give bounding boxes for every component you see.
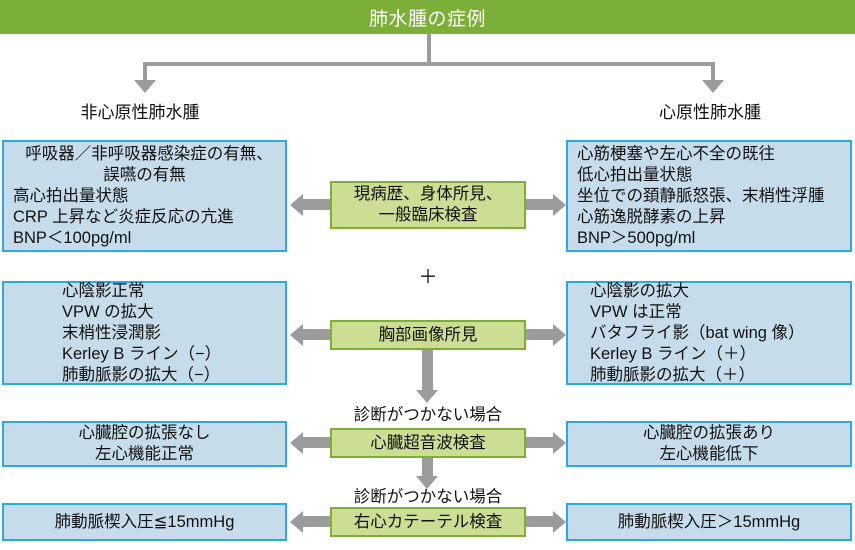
finding-line: BNP＜100pg/ml [4, 228, 285, 249]
flowchart-canvas: 肺水腫の症例 非心原性肺水腫 心原性肺水腫 呼吸器／非呼吸器感染症の有無、 誤嚥… [0, 0, 855, 550]
finding-line: 左心機能低下 [568, 444, 850, 465]
center-step-box-row2[interactable]: 胸部画像所見 [330, 320, 526, 350]
arrow-left-row2 [290, 324, 303, 346]
finding-line: Kerley B ライン（−） [4, 344, 285, 365]
right-findings-box-row4: 肺動脈楔入圧＞15mmHg [566, 503, 852, 541]
branch-label-left: 非心原性肺水腫 [45, 103, 235, 123]
finding-line: 心臓腔の拡張なし [4, 423, 285, 444]
connector-right-branch-stem [711, 62, 715, 82]
finding-line: BNP＞500pg/ml [568, 228, 850, 249]
left-findings-box-row3: 心臓腔の拡張なし 左心機能正常 [2, 421, 287, 467]
connector-row1-left-shaft [303, 199, 330, 210]
connector-left-branch-stem [143, 62, 147, 82]
finding-line: 心筋逸脱酵素の上昇 [568, 207, 850, 228]
arrow-right-row4 [553, 511, 566, 533]
connector-row3-right-shaft [526, 437, 553, 448]
finding-line: 肺動脈影の拡大（＋） [568, 365, 850, 386]
arrow-left-row4 [290, 511, 303, 533]
arrow-down-right-branch [702, 80, 724, 93]
arrow-down-row2-to-row3 [416, 390, 438, 403]
finding-line: VPW の拡大 [4, 302, 285, 323]
finding-line: 高心拍出量状態 [4, 186, 285, 207]
finding-line: 呼吸器／非呼吸器感染症の有無、 [4, 144, 285, 165]
finding-line: 低心拍出量状態 [568, 165, 850, 186]
center-step-box-row4[interactable]: 右心カテーテル検査 [330, 507, 526, 537]
note-label-row3: 診断がつかない場合 [330, 405, 526, 425]
step-line: 心臓超音波検査 [332, 433, 524, 454]
center-step-box-row3[interactable]: 心臓超音波検査 [330, 428, 526, 458]
finding-line: 肺動脈影の拡大（−） [4, 365, 285, 386]
connector-row2-left-shaft [303, 329, 330, 340]
step-line: 右心カテーテル検査 [332, 512, 524, 533]
connector-row4-left-shaft [303, 516, 330, 527]
center-step-box-row1[interactable]: 現病歴、身体所見、 一般臨床検査 [330, 181, 526, 229]
left-findings-box-row4: 肺動脈楔入圧≦15mmHg [2, 503, 287, 541]
note-label-row4: 診断がつかない場合 [330, 487, 526, 507]
connector-row3-left-shaft [303, 437, 330, 448]
connector-root-horizontal [143, 62, 715, 66]
page-title: 肺水腫の症例 [369, 4, 486, 31]
arrow-left-row3 [290, 432, 303, 454]
connector-row2-right-shaft [526, 329, 553, 340]
connector-row4-right-shaft [526, 516, 553, 527]
plus-separator: ＋ [388, 262, 468, 289]
finding-line: 左心機能正常 [4, 444, 285, 465]
finding-line: 肺動脈楔入圧＞15mmHg [568, 512, 850, 533]
finding-line: 坐位での頚静脈怒張、末梢性浮腫 [568, 186, 850, 207]
finding-line: 肺動脈楔入圧≦15mmHg [4, 512, 285, 533]
connector-row2-to-row3-shaft [422, 350, 433, 390]
arrow-down-left-branch [134, 80, 156, 93]
finding-line: 心陰影正常 [4, 281, 285, 302]
step-line: 現病歴、身体所見、 [332, 184, 524, 205]
branch-label-right: 心原性肺水腫 [615, 103, 805, 123]
right-findings-box-row3: 心臓腔の拡張あり 左心機能低下 [566, 421, 852, 467]
connector-root-vertical [427, 34, 431, 64]
finding-line: CRP 上昇など炎症反応の亢進 [4, 207, 285, 228]
chart-header-band: 肺水腫の症例 [0, 0, 855, 34]
finding-line: Kerley B ライン（＋） [568, 344, 850, 365]
step-line: 胸部画像所見 [332, 325, 524, 346]
left-findings-box-row2: 心陰影正常 VPW の拡大 末梢性浸潤影 Kerley B ライン（−） 肺動脈… [2, 281, 287, 385]
finding-line: VPW は正常 [568, 302, 850, 323]
connector-row1-right-shaft [526, 199, 553, 210]
arrow-right-row2 [553, 324, 566, 346]
step-line: 一般臨床検査 [332, 205, 524, 226]
finding-line: 誤嚥の有無 [4, 165, 285, 186]
finding-line: 心筋梗塞や左心不全の既往 [568, 144, 850, 165]
left-findings-box-row1: 呼吸器／非呼吸器感染症の有無、 誤嚥の有無 高心拍出量状態 CRP 上昇など炎症… [2, 140, 287, 252]
connector-row3-to-row4-shaft [422, 458, 433, 476]
finding-line: 末梢性浸潤影 [4, 323, 285, 344]
finding-line: バタフライ影（bat wing 像） [568, 323, 850, 344]
finding-line: 心臓腔の拡張あり [568, 423, 850, 444]
arrow-right-row1 [553, 194, 566, 216]
right-findings-box-row1: 心筋梗塞や左心不全の既往 低心拍出量状態 坐位での頚静脈怒張、末梢性浮腫 心筋逸… [566, 140, 852, 252]
arrow-right-row3 [553, 432, 566, 454]
right-findings-box-row2: 心陰影の拡大 VPW は正常 バタフライ影（bat wing 像） Kerley… [566, 281, 852, 385]
arrow-left-row1 [290, 194, 303, 216]
finding-line: 心陰影の拡大 [568, 281, 850, 302]
